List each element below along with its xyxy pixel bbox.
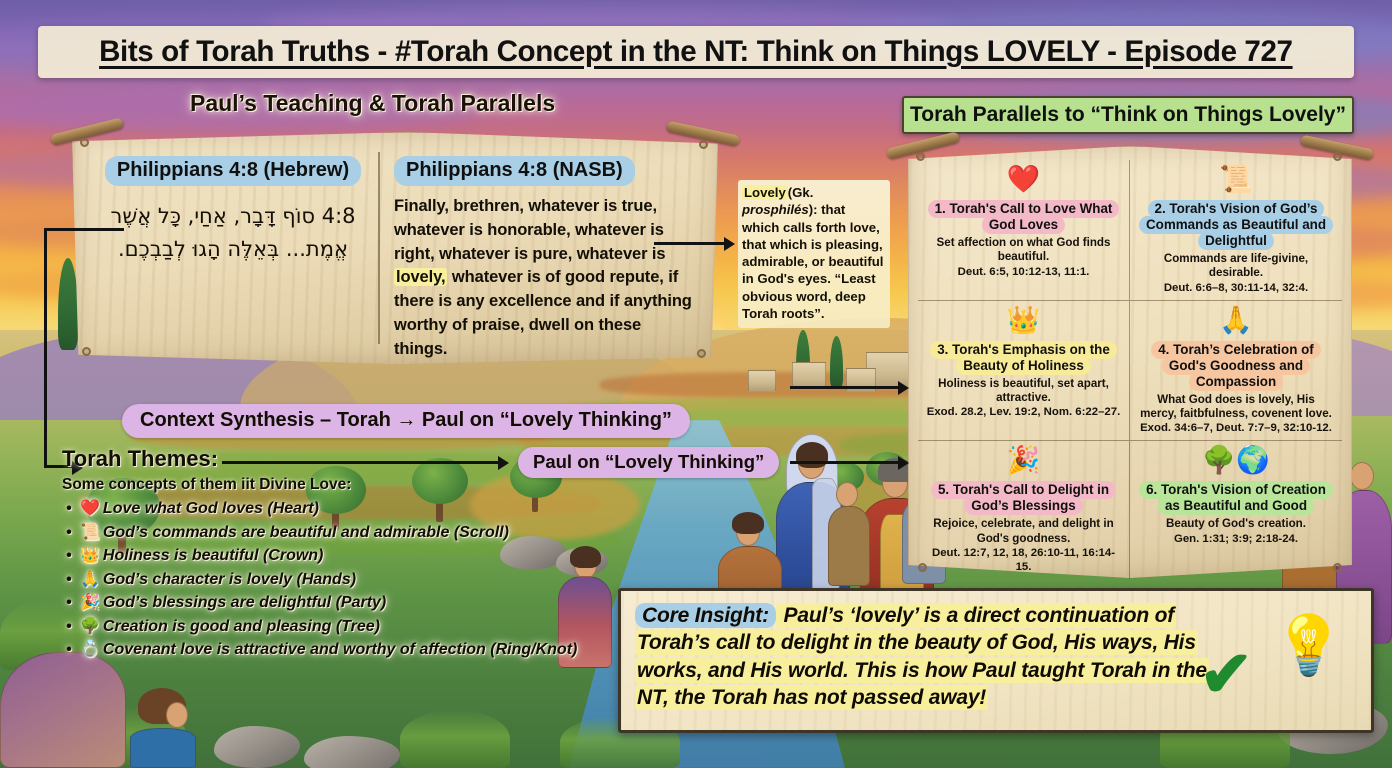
parallel-cell-description: Set affection on what God finds beautifu… [926,236,1121,265]
page-title-bar: Bits of Torah Truths - #Torah Concept in… [38,26,1354,78]
parallel-cell: ❤️1. Torah's Call to Love What God Loves… [918,160,1130,301]
parallel-cell-reference: Gen. 1:31; 3:9; 2:18-24. [1174,533,1298,547]
nasb-text-before: Finally, brethren, whatever is true, wha… [394,197,666,263]
parallel-cell-description: What God does is lovely, His mercy, fait… [1138,393,1334,422]
parallel-cell-title-wrap: 2. Torah's Vision of God’s Commands as B… [1138,201,1334,249]
parallel-cell-description: Rejoice, celebrate, and delight in God's… [926,517,1121,546]
rock [304,736,400,768]
parallel-cell-reference: Deut. 12:7, 12, 18, 26:10-11, 16:14-15. [926,547,1121,575]
grid-connector-head-2 [898,456,909,470]
list-item-label: Creation is good and pleasing (Tree) [103,618,380,635]
torah-parallels-grid: ❤️1. Torah's Call to Love What God Loves… [918,160,1342,564]
heart-icon: ❤️ [80,500,100,517]
parallel-cell: 🙏4. Torah’s Celebration of God's Goodnes… [1130,301,1342,442]
page-title: Bits of Torah Truths - #Torah Concept in… [99,35,1292,69]
parallel-cell: 🌳🌍6. Torah's Vision of Creation as Beaut… [1130,441,1342,578]
tree-icon: 🌳 [80,618,100,635]
parallel-cell-description: Commands are life-givine, desirable. [1138,252,1334,281]
list-item: 👑Holiness is beautiful (Crown) [62,544,622,568]
nasb-header-wrap: Philippians 4:8 (NASB) [394,156,698,186]
hebrew-header-wrap: Philippians 4:8 (Hebrew) [94,156,372,186]
themes-to-paul-head [498,456,509,470]
core-insight-label: Core Insight: [635,603,776,628]
lovely-arrow-head [724,237,735,251]
nasb-lovely-highlight: lovely, [394,268,447,286]
lovely-definition-callout: Lovely(Gk. prosphilés): that which calls… [738,180,890,328]
list-item: 💍Covenant love is attractive and worthy … [62,638,622,662]
banner-grommet [697,349,706,358]
parallel-cell-title-wrap: 5. Torah's Call to Delight in God’s Bles… [926,482,1121,514]
list-item: 🌳Creation is good and pleasing (Tree) [62,615,622,639]
lovely-arrow-line [654,242,726,245]
hebrew-header: Philippians 4:8 (Hebrew) [105,156,361,186]
synthesis-bracket [44,228,74,468]
parallel-cell-title-wrap: 6. Torah's Vision of Creation as Beautif… [1138,482,1334,514]
grid-connector-line-2 [790,461,900,464]
torah-parallels-header: Torah Parallels to “Think on Things Love… [902,96,1354,134]
praying-hands-icon: 🙏 [1219,307,1253,341]
figure-crowd-a [828,476,870,586]
crown-icon: 👑 [1007,307,1041,341]
nasb-verse-text: Finally, brethren, whatever is true, wha… [394,195,698,361]
village-building [748,370,776,392]
parallel-cell-title: 2. Torah's Vision of God’s Commands as B… [1139,200,1333,250]
list-item: 📜God’s commands are beautiful and admira… [62,521,622,545]
parallel-cell: 📜2. Torah's Vision of God’s Commands as … [1130,160,1342,301]
banner-grommet [699,140,708,149]
list-item-label: Holiness is beautiful (Crown) [103,547,323,564]
hebrew-verse-text: 4:8 סוֹף דָּבָר, אַחַי, כָּל אֲשֶׁר אֱמֶ… [94,200,372,265]
parallel-cell-title: 6. Torah's Vision of Creation as Beautif… [1139,481,1333,515]
hebrew-column: Philippians 4:8 (Hebrew) 4:8 סוֹף דָּבָר… [94,156,372,265]
parallel-cell-reference: Deut. 6:6–8, 30:11-14, 32:4. [1164,282,1308,296]
grid-connector-line [790,386,900,389]
list-item: 🎉God’s blessings are delightful (Party) [62,591,622,615]
torah-parallels-header-text: Torah Parallels to “Think on Things Love… [910,103,1346,127]
list-item-label: Covenant love is attractive and worthy o… [103,641,577,658]
party-popper-icon: 🎉 [1007,447,1041,481]
lovely-gk-prefix: (Gk. [788,185,814,200]
parallel-cell-title: 4. Torah’s Celebration of God's Goodness… [1151,341,1321,391]
lovely-definition-body: that which calls forth love, that which … [742,202,883,321]
parallel-cell-reference: Deut. 6:5, 10:12-13, 11:1. [958,266,1090,280]
parallel-cell-description: Holiness is beautiful, set apart, attrac… [926,377,1121,406]
ring-icon: 💍 [80,641,100,658]
lovely-greek-word: prosphilés [742,202,809,217]
torah-parallels-banner: ❤️1. Torah's Call to Love What God Loves… [908,146,1352,578]
themes-subtitle: Some concepts of them iit Divine Love: [62,476,622,494]
parallel-cell-title-wrap: 1. Torah's Call to Love What God Loves [926,201,1121,233]
paul-lovely-thinking-pill: Paul on “Lovely Thinking” [518,447,779,478]
list-item-label: Love what God loves (Heart) [103,500,319,517]
grid-connector-head [898,381,909,395]
parallel-cell-title: 3. Torah's Emphasis on the Beauty of Hol… [930,341,1117,375]
synthesis-bracket-stub [74,228,124,231]
praying-hands-icon: 🙏 [80,571,100,588]
scroll-icon: 📜 [1219,166,1253,200]
parallel-cell-description: Beauty of God's creation. [1166,517,1306,531]
parallel-cell: 👑3. Torah's Emphasis on the Beauty of Ho… [918,301,1130,442]
figure-child-front [122,688,204,768]
lightbulb-icon: 💡 [1273,617,1345,675]
parallel-cell-title-wrap: 3. Torah's Emphasis on the Beauty of Hol… [926,342,1121,374]
list-item-label: God’s commands are beautiful and admirab… [103,524,509,541]
parallel-cell-title: 5. Torah's Call to Delight in God’s Bles… [931,481,1116,515]
nasb-header: Philippians 4:8 (NASB) [394,156,635,186]
parallel-cell-reference: Exod. 34:6–7, Deut. 7:7–9, 32:10-12. [1140,422,1332,436]
list-item-label: God’s character is lovely (Hands) [103,571,356,588]
crown-icon: 👑 [80,547,100,564]
heart-icon: ❤️ [1007,166,1041,200]
lovely-keyword: Lovely [742,185,788,200]
parallel-cell-title: 1. Torah's Call to Love What God Loves [928,200,1120,234]
torah-themes-block: Torah Themes: Some concepts of them iit … [62,446,622,662]
parallel-cell-reference: Exod. 28.2, Lev. 19:2, Nom. 6:22–27. [927,406,1121,420]
scripture-banner: Philippians 4:8 (Hebrew) 4:8 סוֹף דָּבָר… [72,132,718,364]
list-item: 🙏God’s character is lovely (Hands) [62,568,622,592]
list-item: ❤️Love what God loves (Heart) [62,497,622,521]
banner-grommet [80,138,89,147]
party-popper-icon: 🎉 [80,594,100,611]
core-insight-text: Core Insight: Paul’s ‘lovely’ is a direc… [635,602,1215,711]
themes-to-paul-line [222,461,500,464]
parallel-cell: 🎉5. Torah's Call to Delight in God’s Ble… [918,441,1130,578]
scroll-icon: 📜 [80,524,100,541]
grass-tuft [400,710,510,768]
tree-and-earth-icon: 🌳🌍 [1202,447,1269,481]
nasb-column: Philippians 4:8 (NASB) Finally, brethren… [394,156,698,361]
column-divider [378,152,380,344]
core-insight-box: Core Insight: Paul’s ‘lovely’ is a direc… [618,588,1374,733]
list-item-label: God’s blessings are delightful (Party) [103,594,386,611]
themes-list: ❤️Love what God loves (Heart)📜God’s comm… [62,497,622,662]
check-icon: ✔ [1199,642,1253,706]
context-synthesis-bar: Context Synthesis – Torah → Paul on “Lov… [122,404,690,438]
banner-grommet [82,347,91,356]
left-section-heading: Paul’s Teaching & Torah Parallels [190,90,555,117]
parallel-cell-title-wrap: 4. Torah’s Celebration of God's Goodness… [1138,342,1334,390]
